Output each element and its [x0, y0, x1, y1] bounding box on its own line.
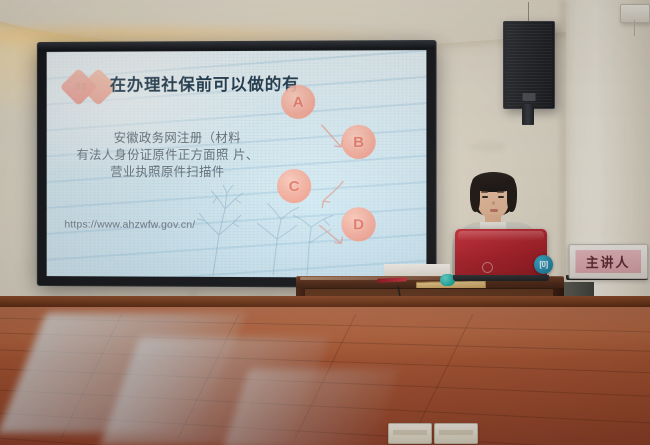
floor-light-reflection [223, 369, 399, 445]
wall-sensor-wire [634, 20, 635, 36]
wall-sensor-icon [620, 4, 650, 23]
wood-floor [0, 307, 650, 445]
laptop-lid [455, 229, 547, 277]
conference-room-photo: 02 在办理社保前可以做的有 安徽政务网注册（材料 有法人身份证原件正方面照 片… [0, 0, 650, 445]
mouth [490, 209, 498, 212]
hair-side-right [507, 180, 517, 212]
floor-box [388, 423, 432, 444]
loudspeaker-icon [503, 21, 555, 109]
projection-screen: 02 在办理社保前可以做的有 安徽政务网注册（材料 有法人身份证原件正方面照 片… [38, 41, 436, 287]
wall-smudge [470, 142, 506, 152]
slide-body-line: 安徽政务网注册（材料 [72, 129, 263, 146]
laptop-sticker-badge: [0] [534, 255, 553, 274]
hair-side-left [470, 180, 480, 212]
laptop-brand-logo-icon [482, 262, 493, 273]
name-plate-text: 主讲人 [576, 250, 642, 273]
red-laptop: [0] [455, 229, 547, 281]
nose [492, 201, 495, 205]
laptop-lid-highlight [458, 231, 544, 241]
laptop-base [453, 275, 549, 281]
slide-body-line: 有法人身份证原件正方面照 [76, 147, 228, 162]
name-plate: 主讲人 [569, 244, 648, 279]
eyebrow-right [497, 191, 504, 193]
eyebrow-left [481, 191, 488, 193]
speaker-badge [523, 93, 536, 101]
slide-logo-number: 02 [70, 82, 92, 92]
slide-url: https://www.ahzwfw.gov.cn/ [64, 219, 195, 231]
speaker-mount-bracket [522, 104, 534, 125]
slide-surface: 02 在办理社保前可以做的有 安徽政务网注册（材料 有法人身份证原件正方面照 片… [47, 50, 427, 278]
slide-flow-arrows [271, 80, 402, 251]
floor-box [434, 423, 478, 444]
